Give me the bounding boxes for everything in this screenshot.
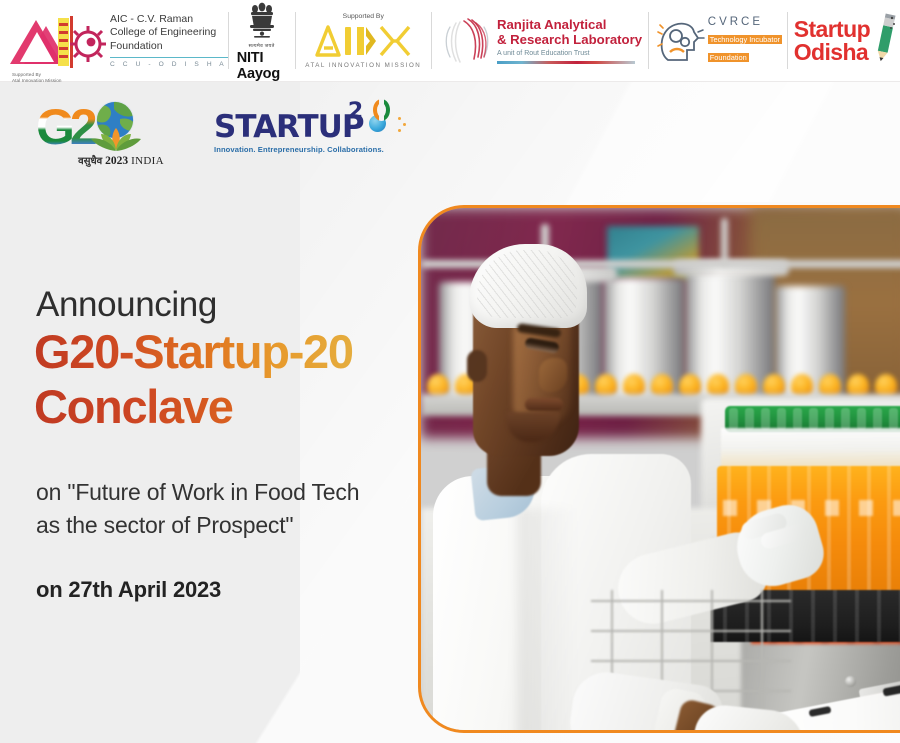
pencil-icon: [874, 12, 896, 70]
brand-logo-row: G 2: [36, 100, 384, 167]
aic-name-block: AIC - C.V. Raman College of Engineering …: [110, 13, 228, 69]
title-line-2: Conclave: [34, 380, 353, 435]
photo-worker-lips: [525, 398, 563, 411]
startup-odisha-line2: Odisha: [794, 41, 870, 64]
partner-logo-aic-cvrcef: Supported By Atal Innovation Mission NIT…: [0, 0, 228, 81]
aic-logo-icon: Supported By Atal Innovation Mission NIT…: [8, 10, 104, 72]
aim-label: ATAL INNOVATION MISSION: [305, 62, 421, 69]
startup20-superscript-20: 2: [348, 93, 390, 124]
cvrce-badge-foundation: Foundation: [708, 53, 749, 62]
partner-logo-atal-innovation-mission: Supported By: [295, 0, 431, 81]
partner-logo-startup-odisha: Startup Odisha: [788, 0, 900, 81]
partner-logo-cvrce-incubator: CVRCE Technology Incubator Foundation: [649, 0, 787, 81]
photo-vertical-pipe: [721, 218, 728, 266]
partner-logo-niti-aayog: सत्यमेव जयते NITI Aayog: [229, 0, 295, 81]
g20-country: INDIA: [131, 155, 164, 167]
state-emblem-icon: [245, 0, 279, 44]
title-line-1: G20-Startup-20: [34, 325, 353, 380]
event-theme-line-1: on "Future of Work in Food Tech: [36, 476, 359, 509]
aim-logo-icon: [311, 21, 415, 59]
announcing-label: Announcing: [36, 285, 217, 325]
g20-letter-g: G: [36, 102, 73, 152]
g20-wordmark: G 2: [36, 100, 184, 152]
globe-swirl-icon: [438, 13, 494, 69]
aic-name-line1: AIC - C.V. Raman: [110, 13, 228, 27]
g20-india-logo: G 2: [36, 100, 184, 167]
aic-location-tagline: C C U - O D I S H A: [110, 61, 228, 68]
page-title: G20-Startup-20 Conclave: [34, 325, 353, 434]
partner-logo-ranjita-lab: Ranjita Analytical & Research Laboratory…: [432, 0, 648, 81]
cvrce-badge-incubator: Technology Incubator: [708, 35, 782, 44]
g20-devanagari: वसुधैव: [78, 153, 102, 167]
startup20-tagline: Innovation. Entrepreneurship. Collaborat…: [214, 145, 384, 154]
g20-year: 2023: [105, 155, 128, 167]
ranjita-name-line2: & Research Laboratory: [497, 32, 642, 47]
gear-eye-icon: [68, 24, 102, 58]
aim-supported-by-label: Supported By: [343, 13, 384, 20]
ranjita-name-line1: Ranjita Analytical: [497, 17, 642, 32]
photo-drum-bolt: [845, 676, 856, 687]
triangle-inner-shape: [20, 32, 54, 62]
startup20-digit-0-tricolor: [373, 99, 390, 121]
startup20-word: STARTUP: [214, 109, 364, 145]
ranjita-name-block: Ranjita Analytical & Research Laboratory…: [497, 17, 642, 64]
event-date: on 27th April 2023: [36, 577, 221, 603]
aic-name-line2: College of Engineering: [110, 26, 228, 40]
startup20-wordmark: STARTUP 2: [214, 112, 384, 143]
g20-footer-text: वसुधैव 2023 INDIA: [58, 153, 184, 167]
photo-worker-ear: [467, 350, 487, 382]
head-gears-icon: [654, 16, 706, 66]
startup20-logo: STARTUP 2 Innovation. Entrepreneurship. …: [214, 112, 384, 154]
cvrce-acronym: CVRCE: [708, 16, 782, 29]
aic-name-line3: Foundation: [110, 40, 228, 54]
partner-logo-bar: Supported By Atal Innovation Mission NIT…: [0, 0, 900, 82]
cvrce-name-block: CVRCE Technology Incubator Foundation: [708, 16, 782, 65]
ranjita-unit-note: A unit of Rout Education Trust: [497, 50, 642, 57]
photo-bottle-labels: [723, 500, 900, 516]
emblem-motto: सत्यमेव जयते: [249, 43, 275, 49]
photo-coat-shadow: [517, 508, 577, 733]
startup-odisha-line1: Startup: [794, 18, 870, 41]
poster-canvas: Supported By Atal Innovation Mission NIT…: [0, 0, 900, 743]
event-theme-line-2: as the sector of Prospect": [36, 509, 359, 542]
divider: [110, 57, 228, 58]
divider: [497, 61, 635, 64]
g20-globe-lotus-icon: [92, 102, 138, 152]
startup20-digit-2: 2: [348, 99, 362, 124]
event-theme: on "Future of Work in Food Tech as the s…: [36, 476, 359, 541]
event-photo-panel: [418, 205, 900, 733]
niti-aayog-label: NITI Aayog: [237, 50, 287, 82]
startup-odisha-wordmark: Startup Odisha: [794, 18, 870, 63]
event-photo: [418, 205, 900, 733]
